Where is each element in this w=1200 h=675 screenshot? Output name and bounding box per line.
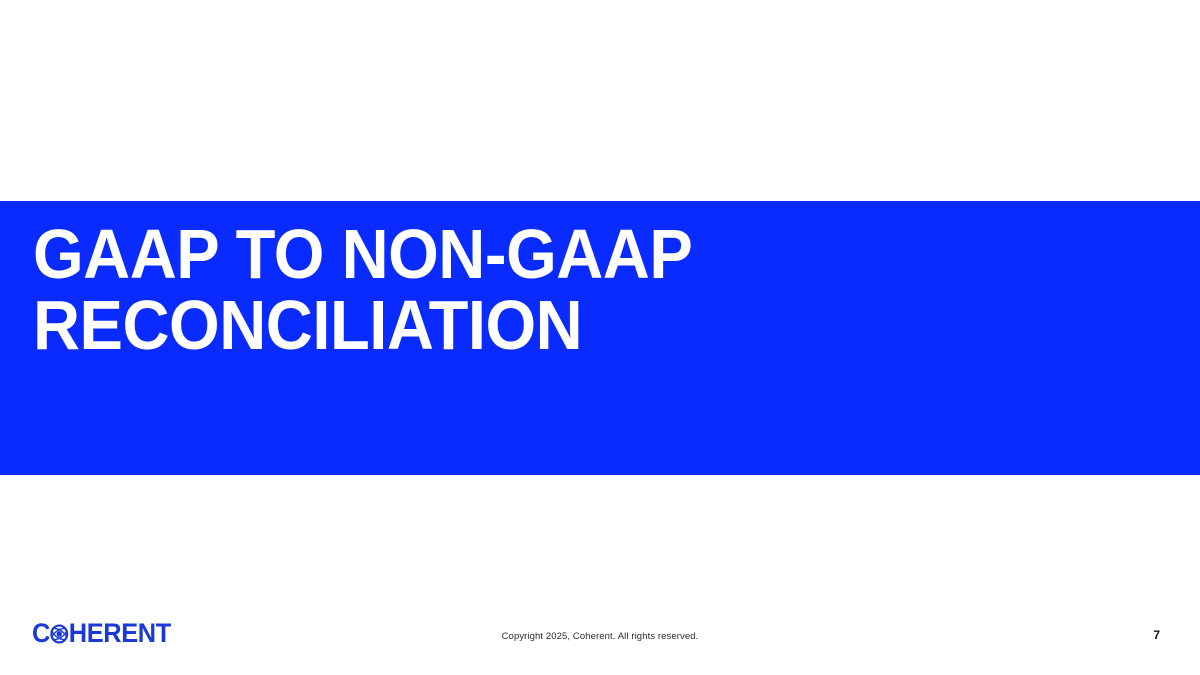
- page-title: GAAP TO NON-GAAP RECONCILIATION: [33, 219, 1133, 361]
- page-title-line-2: RECONCILIATION: [33, 290, 1056, 361]
- copyright-notice: Copyright 2025, Coherent. All rights res…: [0, 631, 1200, 643]
- page-number: 7: [1153, 628, 1160, 642]
- slide-footer: C HERENT Copyright 2025, Coherent. All r…: [0, 600, 1200, 675]
- slide: GAAP TO NON-GAAP RECONCILIATION C HERENT…: [0, 0, 1200, 675]
- page-title-line-1: GAAP TO NON-GAAP: [33, 219, 1056, 290]
- title-band: GAAP TO NON-GAAP RECONCILIATION: [0, 201, 1200, 475]
